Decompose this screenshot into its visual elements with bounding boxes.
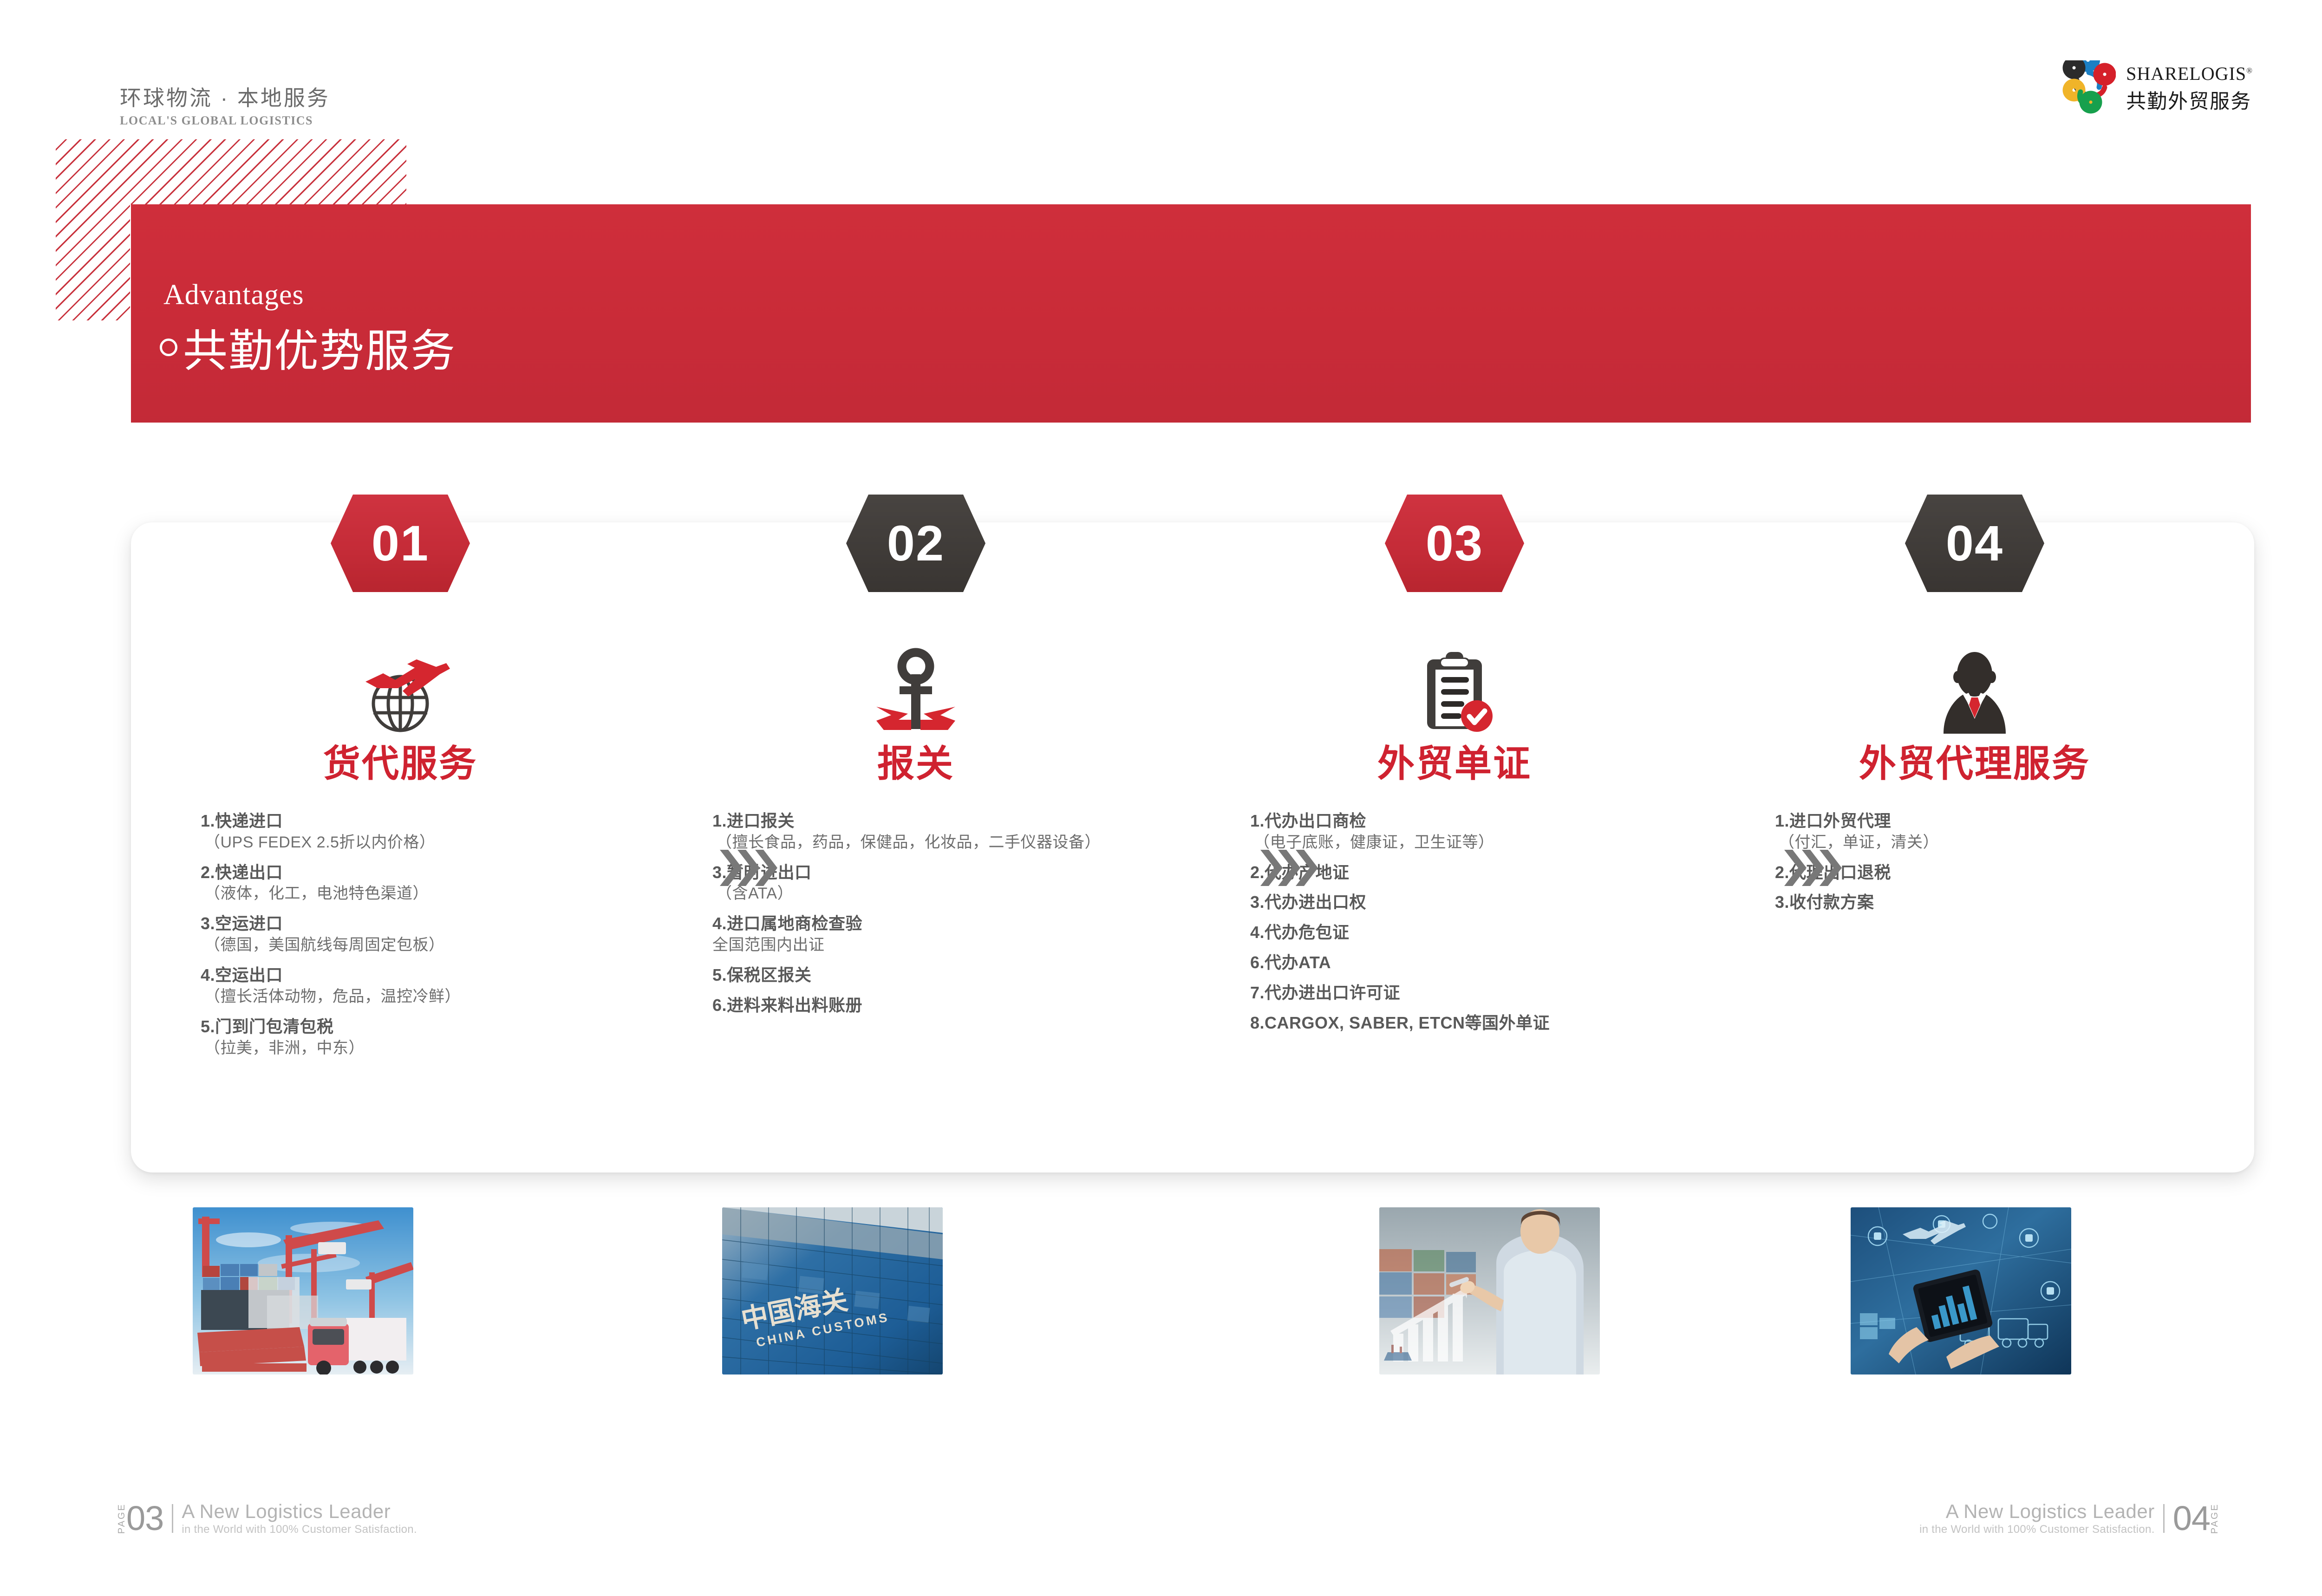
registered-mark-icon: ® — [2246, 66, 2253, 75]
list-item: 1.快递进口 （UPS FEDEX 2.5折以内价格） — [201, 810, 642, 853]
list-item-sub: 全国范围内出证 — [712, 935, 1167, 956]
step-number-3: 03 — [1426, 518, 1483, 568]
footer-tagline-right-1: A New Logistics Leader — [1919, 1501, 2155, 1522]
list-item-sub: （UPS FEDEX 2.5折以内价格） — [201, 832, 642, 853]
column-list-2: 1.进口报关 （擅长食品，药品，保健品，化妆品，二手仪器设备） 3.暂时进出口 … — [660, 810, 1171, 1025]
list-item: 3.暂时进出口 （含ATA） — [712, 862, 1167, 905]
port-crane-truck-photo — [193, 1207, 413, 1375]
chevron-connector-1 — [720, 850, 780, 886]
column-title-2: 报关 — [660, 745, 1171, 782]
list-item-main: 1.进口外贸代理 — [1775, 810, 2216, 832]
list-item: 1.代办出口商检 （电子底账，健康证，卫生证等） — [1250, 810, 1705, 853]
list-item-sub: （含ATA） — [712, 883, 1167, 905]
page-number-right: 04 — [2173, 1501, 2210, 1536]
footer-divider-right — [2163, 1504, 2165, 1533]
list-item: 5.保税区报关 — [712, 964, 1167, 986]
footer-right: A New Logistics Leader in the World with… — [1919, 1501, 2219, 1536]
footer-tagline-left-2: in the World with 100% Customer Satisfac… — [182, 1524, 417, 1535]
list-item-main: 4.进口属地商检查验 — [712, 913, 1167, 935]
logo-wordmark-text: SHARELOGIS — [2126, 63, 2246, 84]
list-item: 8.CARGOX, SABER, ETCN等国外单证 — [1250, 1012, 1705, 1034]
list-item-sub: （德国，美国航线每周固定包板） — [201, 935, 642, 956]
list-item-main: 4.代办危包证 — [1250, 922, 1705, 944]
page-label-right: PAGE — [2210, 1503, 2219, 1534]
list-item: 2.快递出口 （液体，化工，电池特色渠道） — [201, 862, 642, 905]
footer-divider-left — [172, 1504, 173, 1533]
digital-logistics-tablet-photo — [1851, 1207, 2071, 1375]
column-title-3: 外贸单证 — [1199, 745, 1710, 782]
list-item-main: 3.暂时进出口 — [712, 862, 1167, 884]
banner-title-en: Advantages — [163, 279, 304, 312]
banner-title-cn: 共勤优势服务 — [183, 315, 456, 379]
list-item: 6.代办ATA — [1250, 952, 1705, 974]
chevron-connector-2 — [1260, 850, 1321, 886]
list-item: 1.进口报关 （擅长食品，药品，保健品，化妆品，二手仪器设备） — [712, 810, 1167, 853]
list-item-main: 3.空运进口 — [201, 913, 642, 935]
step-badge-3: 03 — [1385, 495, 1524, 592]
list-item: 3.收付款方案 — [1775, 892, 2216, 913]
footer-tagline-right-2: in the World with 100% Customer Satisfac… — [1919, 1524, 2155, 1535]
chevron-connector-3 — [1784, 850, 1845, 886]
anchor-icon — [862, 645, 969, 734]
list-item-main: 7.代办进出口许可证 — [1250, 982, 1705, 1004]
step-number-4: 04 — [1946, 518, 2003, 568]
list-item: 3.代办进出口权 — [1250, 892, 1705, 913]
china-customs-building-photo: 中国海关 CHINA CUSTOMS — [722, 1207, 943, 1375]
list-item-main: 3.代办进出口权 — [1250, 892, 1705, 913]
column-list-1: 1.快递进口 （UPS FEDEX 2.5折以内价格） 2.快递出口 （液体，化… — [145, 810, 656, 1067]
list-item-main: 4.空运出口 — [201, 964, 642, 986]
step-number-2: 02 — [887, 518, 945, 568]
list-item: 6.进料来料出料账册 — [712, 995, 1167, 1016]
column-title-1: 货代服务 — [145, 745, 656, 782]
step-badge-2: 02 — [846, 495, 985, 592]
step-badge-1: 01 — [331, 495, 470, 592]
page-footer: PAGE 03 A New Logistics Leader in the Wo… — [0, 1485, 2322, 1536]
list-item-sub: （擅长食品，药品，保健品，化妆品，二手仪器设备） — [712, 832, 1167, 853]
list-item: 7.代办进出口许可证 — [1250, 982, 1705, 1004]
list-item-sub: （拉美，非洲，中东） — [201, 1038, 642, 1059]
brand-title-cn: 环球物流 · 本地服务 — [120, 81, 330, 112]
list-item-main: 5.门到门包清包税 — [201, 1016, 642, 1038]
list-item-main: 1.进口报关 — [712, 810, 1167, 832]
inspector-warehouse-photo — [1379, 1207, 1600, 1375]
logo-wordmark-en: SHARELOGIS® — [2126, 63, 2253, 85]
column-title-4: 外贸代理服务 — [1719, 745, 2230, 782]
list-item-sub: （液体，化工，电池特色渠道） — [201, 883, 642, 905]
brand-title-en: LOCAL'S GLOBAL LOGISTICS — [120, 114, 330, 128]
list-item: 4.空运出口 （擅长活体动物，危品，温控冷鲜） — [201, 964, 642, 1008]
list-item-main: 1.代办出口商检 — [1250, 810, 1705, 832]
list-item-main: 5.保税区报关 — [712, 964, 1167, 986]
list-item: 5.门到门包清包税 （拉美，非洲，中东） — [201, 1016, 642, 1059]
banner-title-cn-row: 共勤优势服务 — [160, 315, 456, 379]
logo-wordmark-cn: 共勤外贸服务 — [2126, 85, 2253, 114]
company-logo: SHARELOGIS® 共勤外贸服务 — [2060, 60, 2253, 116]
list-item-main: 1.快递进口 — [201, 810, 642, 832]
column-list-3: 1.代办出口商检 （电子底账，健康证，卫生证等） 2.代办产地证 3.代办进出口… — [1199, 810, 1710, 1042]
step-badge-4: 04 — [1905, 495, 2044, 592]
list-item-sub: （擅长活体动物，危品，温控冷鲜） — [201, 986, 642, 1008]
list-item-main: 2.快递出口 — [201, 862, 642, 884]
section-banner: Advantages 共勤优势服务 — [131, 204, 2251, 423]
globe-airplane-icon — [347, 645, 454, 734]
list-item: 4.代办危包证 — [1250, 922, 1705, 944]
circle-bullet-icon — [160, 339, 177, 356]
list-item-main: 3.收付款方案 — [1775, 892, 2216, 913]
businessman-icon — [1921, 645, 2028, 734]
list-item: 3.空运进口 （德国，美国航线每周固定包板） — [201, 913, 642, 956]
footer-tagline-left-1: A New Logistics Leader — [182, 1501, 417, 1522]
list-item-main: 6.进料来料出料账册 — [712, 995, 1167, 1016]
list-item: 1.进口外贸代理 （付汇，单证，清关） — [1775, 810, 2216, 853]
clipboard-check-icon — [1401, 645, 1508, 734]
header-brand: 环球物流 · 本地服务 LOCAL'S GLOBAL LOGISTICS — [120, 81, 330, 128]
list-item-main: 8.CARGOX, SABER, ETCN等国外单证 — [1250, 1012, 1705, 1034]
sharelogis-logo-icon — [2060, 60, 2116, 116]
step-number-1: 01 — [372, 518, 429, 568]
page-label-left: PAGE — [117, 1503, 126, 1534]
footer-left: PAGE 03 A New Logistics Leader in the Wo… — [117, 1501, 417, 1536]
list-item: 4.进口属地商检查验 全国范围内出证 — [712, 913, 1167, 956]
list-item-main: 6.代办ATA — [1250, 952, 1705, 974]
page-number-left: 03 — [126, 1501, 163, 1536]
